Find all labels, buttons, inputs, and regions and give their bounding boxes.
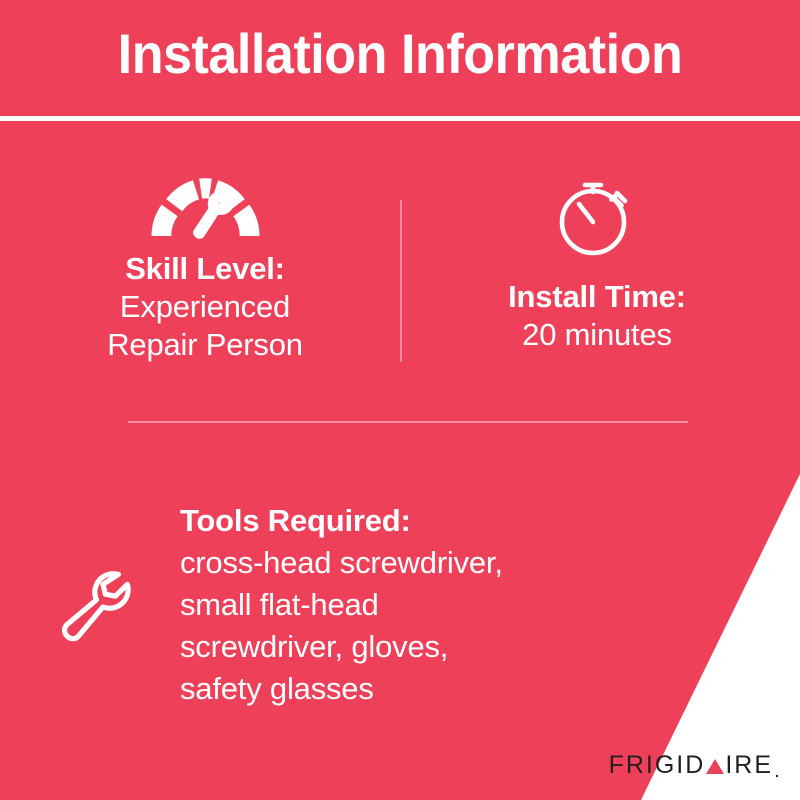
logo-registered-dot [776,775,778,777]
tools-required-heading: Tools Required: [180,500,695,542]
frigidaire-logo: FRIGID IRE [609,753,778,778]
tools-required-line-3: screwdriver, gloves, [180,626,600,668]
install-time-heading: Install Time: [432,278,762,316]
wrench-icon [55,500,180,646]
section-divider [128,421,688,423]
logo-triangle-icon [706,759,724,774]
page-title: Installation Information [28,22,772,86]
column-divider [400,200,402,362]
install-time-block: Install Time: 20 minutes [432,170,762,354]
installation-information-infographic: Installation Information Skill Level: Ex… [0,0,800,800]
skill-level-heading: Skill Level: [40,250,370,288]
logo-text-part-1: FRIGID [609,753,706,778]
tools-required-text: Tools Required: cross-head screwdriver, … [180,500,695,710]
install-time-value: 20 minutes [432,316,762,354]
tools-required-line-1: cross-head screwdriver, [180,542,600,584]
skill-level-line-2: Repair Person [40,326,370,364]
tools-required-block: Tools Required: cross-head screwdriver, … [55,500,695,710]
skill-level-line-1: Experienced [40,288,370,326]
tools-required-line-2: small flat-head [180,584,600,626]
tools-required-line-4: safety glasses [180,668,600,710]
logo-text-part-2: IRE [725,753,773,778]
stopwatch-icon [432,170,762,260]
header-divider [0,116,800,121]
skill-level-block: Skill Level: Experienced Repair Person [40,170,370,364]
gauge-wrench-icon [40,170,370,240]
